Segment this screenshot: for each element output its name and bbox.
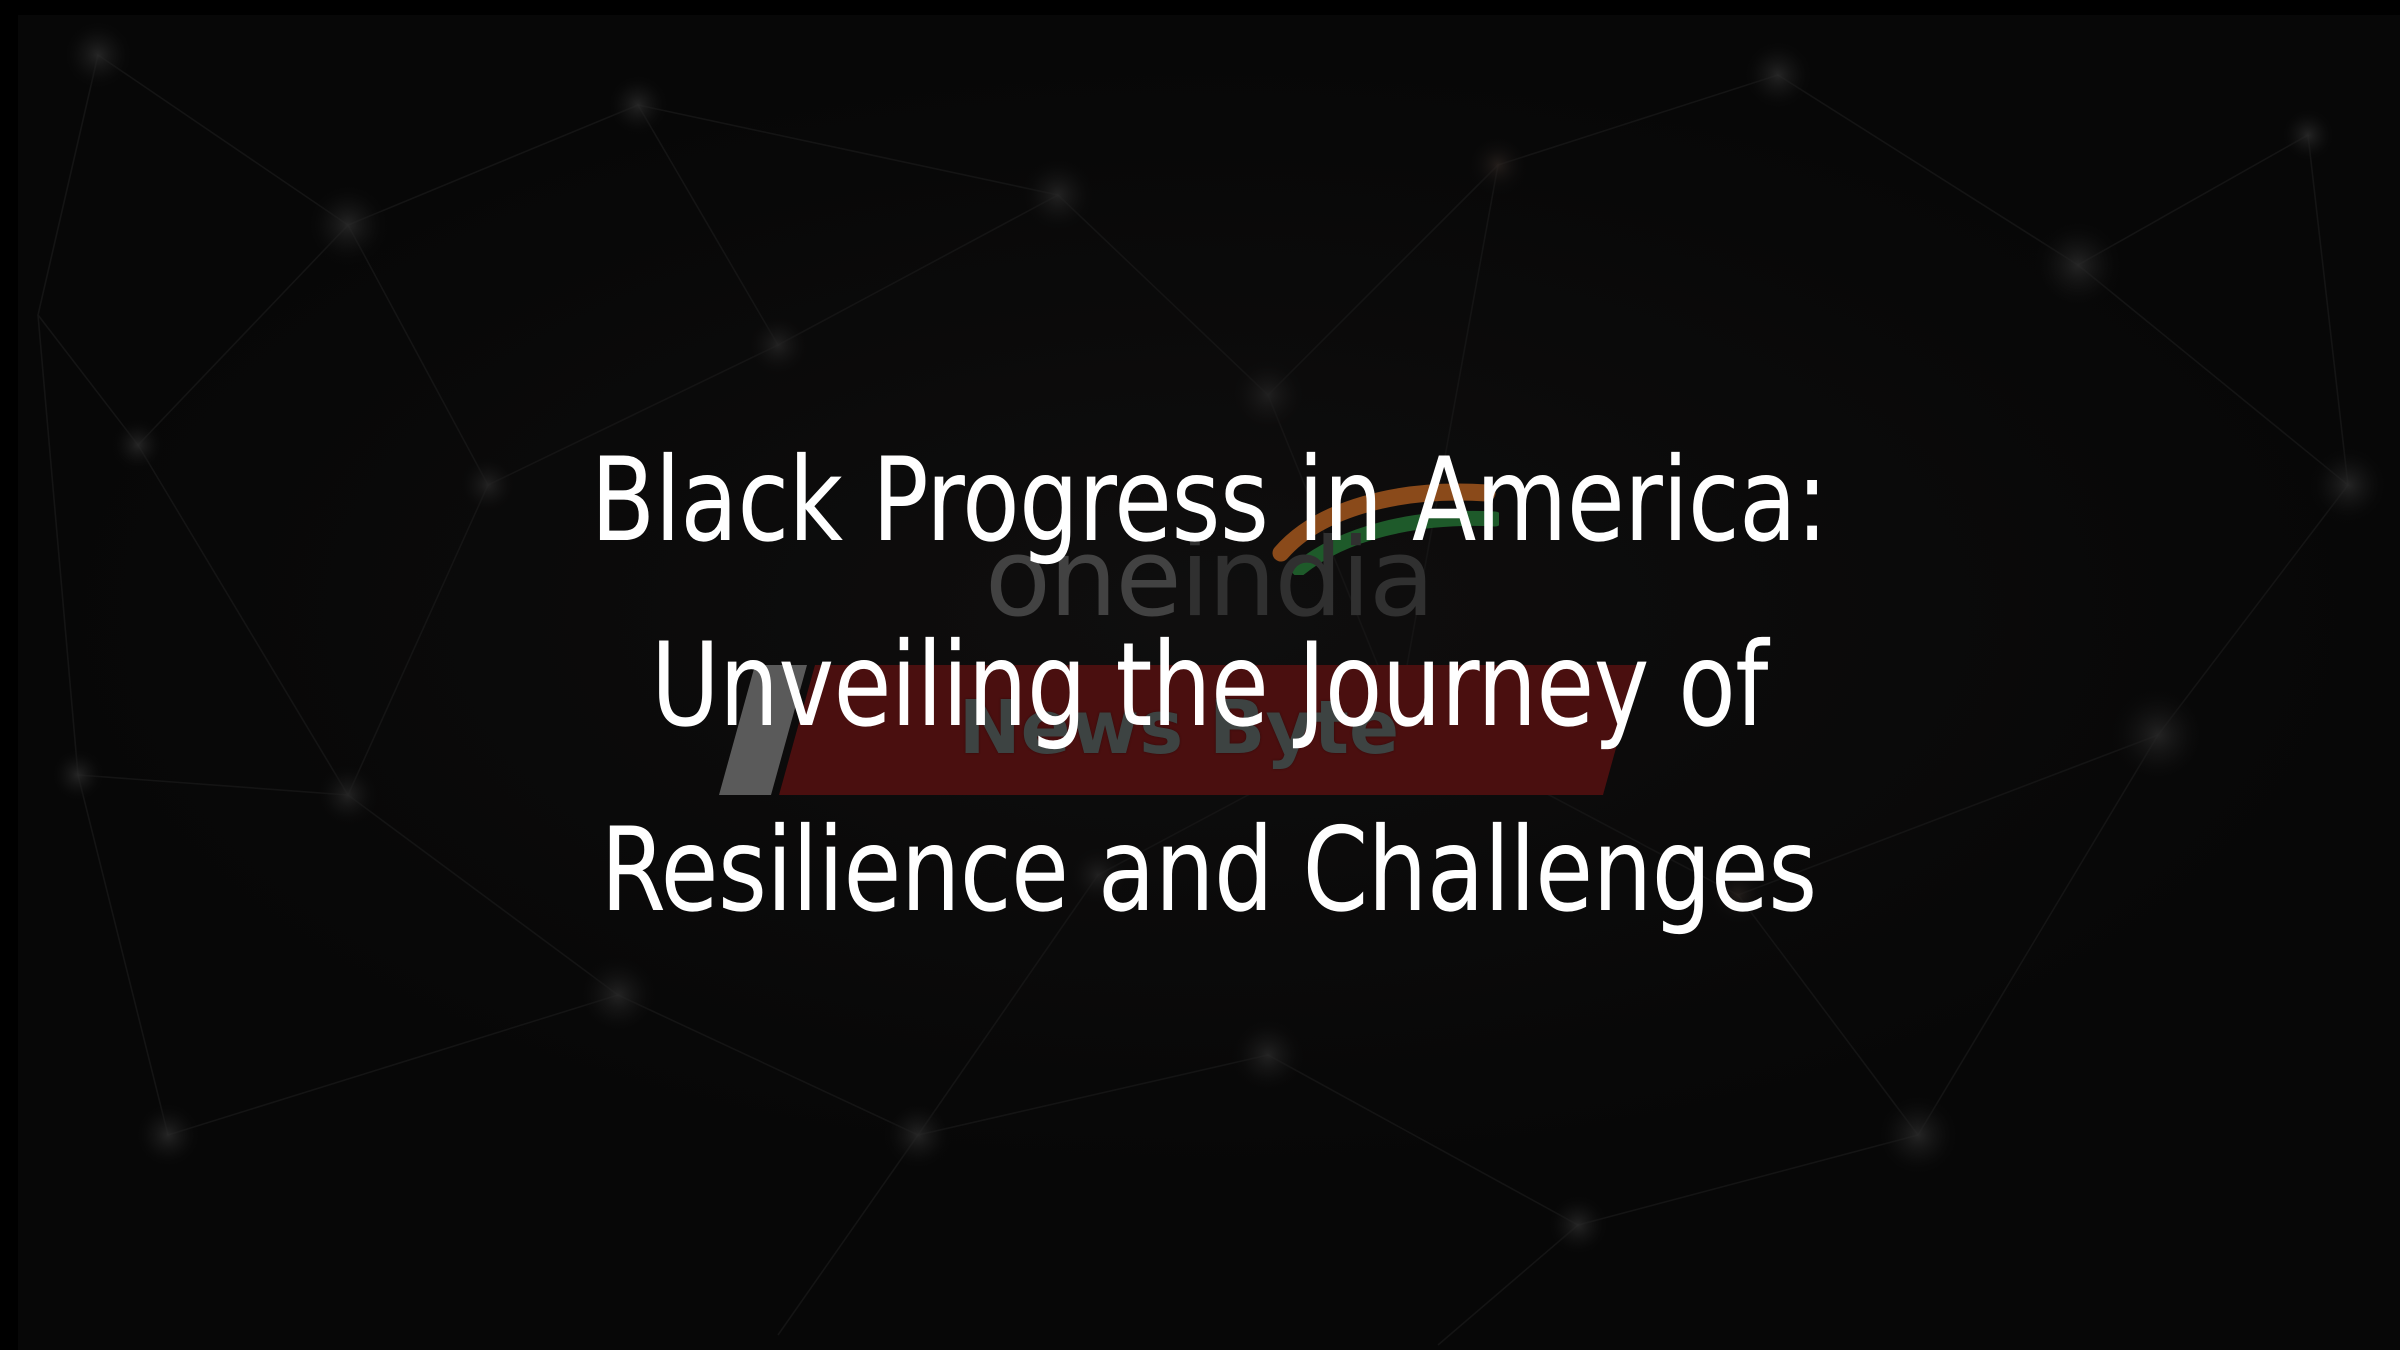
slide-stage: oneindia News Byte Black Progress in Ame…	[18, 15, 2400, 1350]
headline-line-3: Resilience and Challenges	[601, 778, 1817, 963]
headline-line-2: Unveiling the Journey of	[651, 593, 1768, 778]
video-title-card: oneindia News Byte Black Progress in Ame…	[0, 0, 2400, 1350]
headline-block: Black Progress in America: Unveiling the…	[18, 15, 2400, 1350]
headline-line-1: Black Progress in America:	[591, 408, 1828, 593]
